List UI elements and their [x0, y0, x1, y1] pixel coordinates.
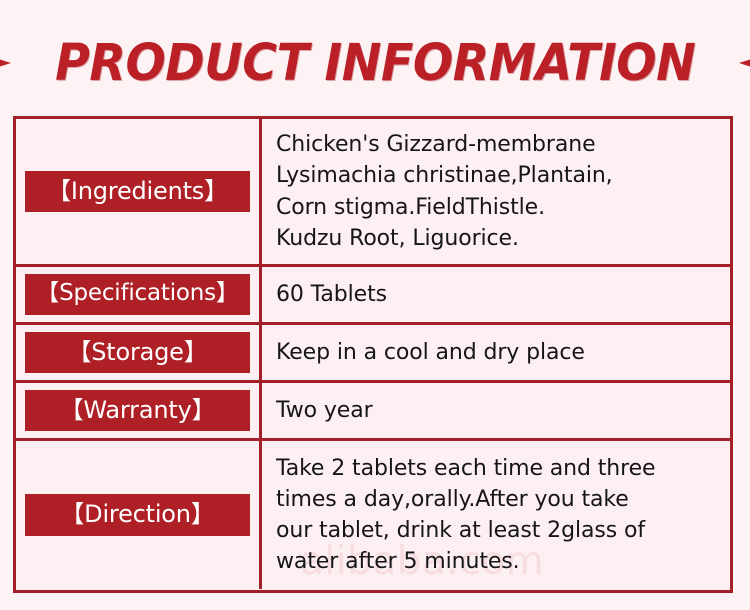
row-value-cell: 60 Tablets: [262, 267, 730, 322]
status-badge: 【Storage】: [25, 332, 250, 374]
table-row: 【Specifications】 60 Tablets: [16, 267, 730, 325]
page-title: PRODUCT INFORMATION: [55, 38, 695, 89]
value-line: Corn stigma.FieldThistle.: [276, 192, 730, 223]
value-line: times a day,orally.After you take: [276, 484, 730, 515]
value-line: Lysimachia christinae,Plantain,: [276, 160, 730, 191]
value-line: Take 2 tablets each time and three: [276, 453, 730, 484]
row-label-cell: 【Direction】: [16, 441, 262, 589]
table-row: 【Direction】 Take 2 tablets each time and…: [16, 441, 730, 589]
row-value-cell: Two year: [262, 383, 730, 438]
table-row: 【Ingredients】 Chicken's Gizzard-membrane…: [16, 119, 730, 267]
value-line: Kudzu Root, Liguorice.: [276, 223, 730, 254]
row-label-cell: 【Ingredients】: [16, 119, 262, 264]
row-value-cell: Chicken's Gizzard-membrane Lysimachia ch…: [262, 119, 730, 264]
value-line: 60 Tablets: [276, 279, 730, 310]
value-line: Two year: [276, 395, 730, 426]
status-badge: 【Specifications】: [25, 274, 250, 314]
table-row: 【Warranty】 Two year: [16, 383, 730, 441]
arrow-right-icon: [0, 47, 13, 79]
value-line: our tablet, drink at least 2glass of: [276, 515, 730, 546]
row-value-cell: Take 2 tablets each time and three times…: [262, 441, 730, 589]
product-information-table: 【Ingredients】 Chicken's Gizzard-membrane…: [13, 116, 733, 593]
value-line: Keep in a cool and dry place: [276, 337, 730, 368]
status-badge: 【Ingredients】: [25, 171, 250, 213]
arrow-left-icon: [737, 47, 750, 79]
row-value-cell: Keep in a cool and dry place: [262, 325, 730, 380]
table-row: 【Storage】 Keep in a cool and dry place: [16, 325, 730, 383]
row-label-cell: 【Storage】: [16, 325, 262, 380]
value-line: Chicken's Gizzard-membrane: [276, 129, 730, 160]
row-label-cell: 【Warranty】: [16, 383, 262, 438]
status-badge: 【Warranty】: [25, 390, 250, 432]
page-title-bar: PRODUCT INFORMATION: [0, 32, 750, 94]
status-badge: 【Direction】: [25, 494, 250, 536]
row-label-cell: 【Specifications】: [16, 267, 262, 322]
value-line: water after 5 minutes.: [276, 546, 730, 577]
